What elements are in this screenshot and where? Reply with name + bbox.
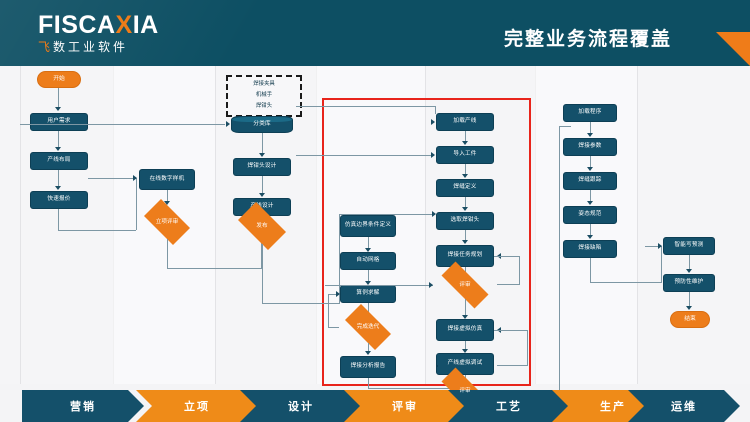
node-end[interactable]: 结束 — [670, 311, 710, 328]
connector — [296, 106, 436, 107]
logo-sub-accent: 飞 — [38, 40, 53, 54]
node-welding-virtual-simulation[interactable]: 焊接虚拟仿真 — [436, 319, 494, 341]
node-weld-analysis-report[interactable]: 焊接分析报告 — [340, 356, 396, 378]
lane-divider — [215, 66, 216, 384]
arrow-down-icon — [259, 193, 265, 197]
connector — [58, 131, 59, 148]
node-iteration-complete[interactable]: 完成迭代 — [338, 311, 398, 343]
connector — [58, 230, 136, 231]
connector — [465, 299, 466, 316]
connector — [20, 124, 225, 125]
arrow-down-icon — [462, 174, 468, 178]
group-label-line1: 焊接夹具 — [228, 77, 300, 88]
connector — [325, 285, 433, 286]
stage-design[interactable]: 设计 — [240, 390, 362, 422]
node-welding-defect[interactable]: 焊接缺陷 — [563, 240, 617, 258]
connector — [497, 284, 520, 285]
connector — [661, 246, 662, 282]
stage-operation-maintenance[interactable]: 运维 — [628, 390, 740, 422]
node-classification-library[interactable]: 分类库 — [231, 116, 293, 133]
node-start[interactable]: 开始 — [37, 71, 81, 88]
arrow-down-icon — [587, 201, 593, 205]
node-preventive-maintenance[interactable]: 预防性维护 — [663, 274, 715, 292]
arrow-down-icon — [462, 240, 468, 244]
connector — [497, 365, 528, 366]
connector — [88, 178, 136, 179]
node-auto-mesh[interactable]: 自动网格 — [340, 252, 396, 270]
lane-divider — [20, 66, 21, 384]
node-user-requirements[interactable]: 用户需求 — [30, 113, 88, 131]
connector — [262, 133, 263, 154]
arrow-down-icon — [686, 269, 692, 273]
connector — [559, 126, 571, 127]
connector — [58, 170, 59, 187]
node-load-program[interactable]: 加载程序 — [563, 104, 617, 122]
arrow-down-icon — [587, 235, 593, 239]
connector — [167, 268, 262, 269]
arrow-down-icon — [55, 147, 61, 151]
spacer3 — [436, 365, 438, 367]
stage-project-initiation[interactable]: 立项 — [136, 390, 258, 422]
connector — [167, 239, 168, 269]
arrow-down-icon — [365, 351, 371, 355]
node-load-production-line[interactable]: 加载产线 — [436, 113, 494, 131]
stage-review[interactable]: 评审 — [344, 390, 466, 422]
node-welding-task-planning[interactable]: 焊接任务规划 — [436, 245, 494, 267]
logo-subtitle: 飞数工业软件 — [38, 40, 159, 55]
connector — [527, 330, 528, 366]
connector — [58, 88, 59, 108]
slide-header: FISCAXIA 飞数工业软件 完整业务流程覆盖 — [0, 0, 750, 66]
connector — [262, 244, 263, 304]
header-corner-accent-icon — [716, 32, 750, 66]
connector — [689, 255, 690, 270]
page-title: 完整业务流程覆盖 — [504, 24, 672, 51]
connector — [559, 126, 560, 422]
logo-wordmark: FISCAXIA — [38, 12, 159, 39]
node-gun-head-design[interactable]: 焊钳头设计 — [233, 158, 291, 176]
slide-root: FISCAXIA 飞数工业软件 完整业务流程覆盖 开始 用户需求 产线布局 快速… — [0, 0, 750, 422]
node-pose-specification[interactable]: 姿态规范 — [563, 206, 617, 224]
node-line-layout[interactable]: 产线布局 — [30, 152, 88, 170]
arrow-right-icon — [431, 152, 435, 158]
arrow-down-icon — [55, 186, 61, 190]
arrow-right-icon — [431, 119, 435, 125]
arrow-down-icon — [587, 167, 593, 171]
node-select-welding-gun[interactable]: 选取焊钳头 — [436, 212, 494, 230]
arrow-right-icon — [336, 291, 340, 297]
group-label-line2: 机械手 — [228, 88, 300, 99]
node-review-1[interactable]: 评审 — [432, 271, 498, 299]
group-label-line3: 焊钳头 — [228, 99, 300, 110]
arrow-down-icon — [462, 141, 468, 145]
node-line-virtual-commissioning[interactable]: 产线虚拟调试 — [436, 353, 494, 375]
flowchart-canvas: 开始 用户需求 产线布局 快速报价 在线数字样机 立项评审 焊接夹具 — [0, 66, 750, 384]
connector — [262, 176, 263, 194]
lane-divider — [637, 66, 638, 384]
node-weld-seam-definition[interactable]: 焊缝定义 — [436, 179, 494, 197]
group-box-weld-components: 焊接夹具 机械手 焊钳头 — [226, 75, 302, 117]
connector — [435, 106, 436, 114]
node-project-review[interactable]: 立项评审 — [138, 205, 196, 239]
logo-x-glyph: X — [116, 11, 133, 39]
connector — [328, 294, 329, 327]
node-online-digital-prototype[interactable]: 在线数字样机 — [139, 169, 195, 190]
connector — [590, 282, 662, 283]
node-simulation-boundary-conditions[interactable]: 仿真边界条件定义 — [340, 215, 396, 237]
arrow-down-icon — [587, 133, 593, 137]
brand-logo: FISCAXIA 飞数工业软件 — [38, 12, 159, 55]
arrow-down-icon — [462, 207, 468, 211]
stage-marketing[interactable]: 营销 — [22, 390, 144, 422]
logo-text-left: FISCA — [38, 11, 116, 39]
node-quick-quote[interactable]: 快速报价 — [30, 191, 88, 209]
arrow-right-icon — [429, 282, 433, 288]
logo-sub-rest: 数工业软件 — [53, 40, 128, 54]
node-seam-tracking[interactable]: 焊缝跟踪 — [563, 172, 617, 190]
connector — [328, 327, 339, 328]
connector — [58, 209, 59, 231]
connector — [136, 178, 137, 230]
connector — [590, 258, 591, 283]
process-stage-bar: 营销 立项 设计 评审 工艺 生产 运维 — [0, 390, 750, 422]
arrow-right-icon — [133, 175, 137, 181]
node-case-solving[interactable]: 算例求解 — [340, 285, 396, 303]
node-publish[interactable]: 发布 — [232, 208, 292, 244]
arrow-down-icon — [55, 107, 61, 111]
arrow-right-icon — [226, 121, 230, 127]
node-intelligent-prediction[interactable]: 智能写预测 — [663, 237, 715, 255]
connector — [494, 256, 520, 257]
stage-process[interactable]: 工艺 — [448, 390, 570, 422]
node-import-workpiece[interactable]: 导入工件 — [436, 146, 494, 164]
arrow-down-icon — [259, 153, 265, 157]
connector — [296, 155, 434, 156]
logo-text-right: IA — [133, 11, 159, 39]
arrow-down-icon — [686, 306, 692, 310]
node-welding-parameters[interactable]: 焊接参数 — [563, 138, 617, 156]
connector — [494, 330, 528, 331]
connector — [519, 256, 520, 285]
connector — [689, 292, 690, 307]
arrow-right-icon — [658, 243, 662, 249]
